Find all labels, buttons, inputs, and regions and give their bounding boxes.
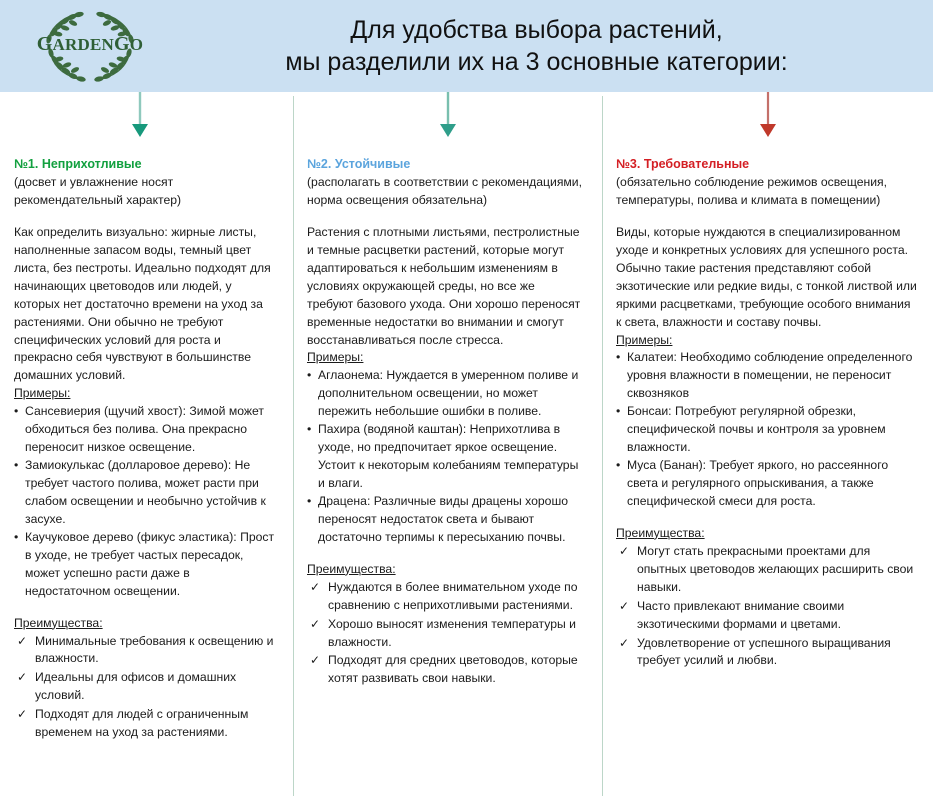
list-item: Подходят для людей с ограниченным времен… bbox=[14, 706, 275, 742]
advantages-list-2: Нуждаются в более внимательном уходе по … bbox=[307, 579, 584, 689]
category-subtitle-3: (обязательно соблюдение режимов освещени… bbox=[616, 174, 919, 210]
list-item: Подходят для средних цветоводов, которые… bbox=[307, 652, 584, 688]
list-item: Хорошо выносят изменения температуры и в… bbox=[307, 616, 584, 652]
list-item: Удовлетворение от успешного выращивания … bbox=[616, 635, 919, 671]
list-item: Муса (Банан): Требует яркого, но рассеян… bbox=[616, 457, 919, 511]
category-title-1: №1. Неприхотливые bbox=[14, 156, 275, 173]
logo: GARDENGO bbox=[0, 0, 180, 92]
list-item: Сансевиерия (щучий хвост): Зимой может о… bbox=[14, 403, 275, 457]
examples-list-1: Сансевиерия (щучий хвост): Зимой может о… bbox=[14, 403, 275, 600]
list-item: Калатеи: Необходимо соблюдение определен… bbox=[616, 349, 919, 403]
list-item: Могут стать прекрасными проектами для оп… bbox=[616, 543, 919, 597]
examples-label-2: Примеры: bbox=[307, 349, 584, 367]
arrow-down-icon-2 bbox=[437, 92, 459, 138]
examples-list-3: Калатеи: Необходимо соблюдение определен… bbox=[616, 349, 919, 510]
categories-columns: №1. Неприхотливые (досвет и увлажнение н… bbox=[0, 156, 933, 743]
arrow-down-icon-1 bbox=[129, 92, 151, 138]
list-item: Каучуковое дерево (фикус эластика): Прос… bbox=[14, 529, 275, 601]
category-subtitle-2: (располагать в соответствии с рекомендац… bbox=[307, 174, 584, 210]
advantages-label-2: Преимущества: bbox=[307, 561, 584, 579]
arrow-down-icon-3 bbox=[757, 92, 779, 138]
page-title: Для удобства выбора растений, мы раздели… bbox=[180, 14, 933, 78]
list-item: Минимальные требования к освещению и вла… bbox=[14, 633, 275, 669]
infographic-page: GARDENGO Для удобства выбора растений, м… bbox=[0, 0, 933, 800]
logo-wordmark: GARDENGO bbox=[31, 34, 149, 54]
advantages-list-1: Минимальные требования к освещению и вла… bbox=[14, 633, 275, 743]
category-body-2: Растения с плотными листьями, пестролист… bbox=[307, 224, 584, 350]
page-title-line-2: мы разделили их на 3 основные категории: bbox=[180, 46, 893, 78]
list-item: Часто привлекают внимание своими экзотич… bbox=[616, 598, 919, 634]
list-item: Аглаонема: Нуждается в умеренном поливе … bbox=[307, 367, 584, 421]
category-column-undemanding: №1. Неприхотливые (досвет и увлажнение н… bbox=[0, 156, 293, 743]
category-column-demanding: №3. Требовательные (обязательно соблюден… bbox=[602, 156, 933, 671]
category-subtitle-1: (досвет и увлажнение носят рекомендатель… bbox=[14, 174, 275, 210]
list-item: Замиокулькас (долларовое дерево): Не тре… bbox=[14, 457, 275, 529]
list-item: Драцена: Различные виды драцены хорошо п… bbox=[307, 493, 584, 547]
list-item: Идеальны для офисов и домашних условий. bbox=[14, 669, 275, 705]
category-title-2: №2. Устойчивые bbox=[307, 156, 584, 173]
advantages-label-3: Преимущества: bbox=[616, 525, 919, 543]
examples-label-1: Примеры: bbox=[14, 385, 275, 403]
examples-list-2: Аглаонема: Нуждается в умеренном поливе … bbox=[307, 367, 584, 546]
header-band: GARDENGO Для удобства выбора растений, м… bbox=[0, 0, 933, 92]
list-item: Нуждаются в более внимательном уходе по … bbox=[307, 579, 584, 615]
list-item: Пахира (водяной каштан): Неприхотлива в … bbox=[307, 421, 584, 493]
advantages-label-1: Преимущества: bbox=[14, 615, 275, 633]
category-body-3: Виды, которые нуждаются в специализирова… bbox=[616, 224, 919, 332]
category-column-resilient: №2. Устойчивые (располагать в соответств… bbox=[293, 156, 602, 689]
category-title-3: №3. Требовательные bbox=[616, 156, 919, 173]
list-item: Бонсаи: Потребуют регулярной обрезки, сп… bbox=[616, 403, 919, 457]
page-title-line-1: Для удобства выбора растений, bbox=[180, 14, 893, 46]
category-body-1: Как определить визуально: жирные листы, … bbox=[14, 224, 275, 385]
advantages-list-3: Могут стать прекрасными проектами для оп… bbox=[616, 543, 919, 671]
examples-label-3: Примеры: bbox=[616, 332, 919, 350]
